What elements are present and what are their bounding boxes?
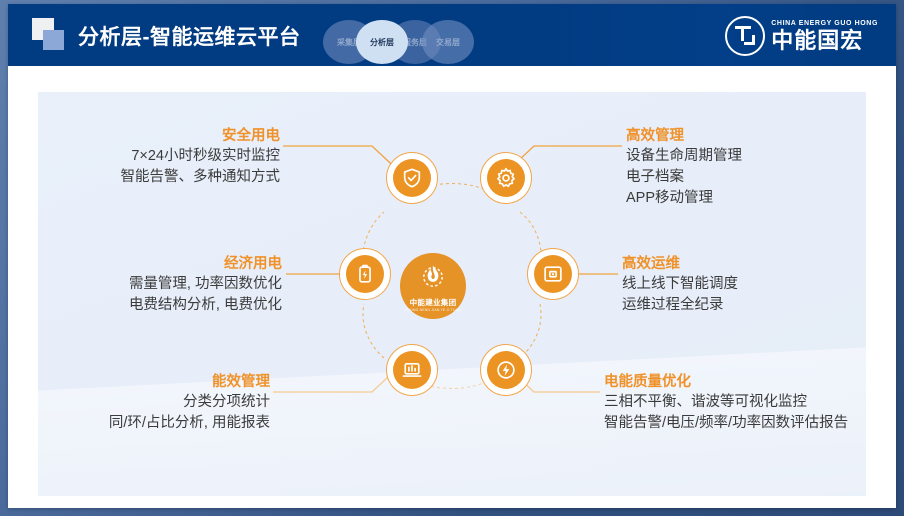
block-title: 安全用电 xyxy=(38,126,280,146)
block-line: 分类分项统计 xyxy=(38,392,270,413)
mark-hook xyxy=(744,35,755,45)
text-block-power-quality: 电能质量优化 三相不平衡、谐波等可视化监控 智能告警/电压/频率/功率因数评估报… xyxy=(604,372,866,434)
china-energy-guohong-mark-icon xyxy=(725,16,765,56)
gear-icon xyxy=(487,159,525,197)
node-efficient-management[interactable] xyxy=(480,152,532,204)
block-title: 经济用电 xyxy=(38,254,282,274)
block-line: 同/环/占比分析, 用能报表 xyxy=(38,413,270,434)
block-line: 设备生命周期管理 xyxy=(626,146,866,167)
diagram-panel: 中能建业集团 ZHONG NENG JIAN YE JI TUAN 安全用电 7… xyxy=(38,92,866,496)
flame-gear-emblem-icon xyxy=(418,263,448,296)
block-line: 电费结构分析, 电费优化 xyxy=(38,295,282,316)
block-line: 智能告警/电压/频率/功率因数评估报告 xyxy=(604,413,866,434)
stage-pill-trading[interactable]: 交易层 xyxy=(422,20,474,64)
battery-bolt-icon xyxy=(346,255,384,293)
block-line: 7×24小时秒级实时监控 xyxy=(38,146,280,167)
stage-pill-group: 采集层 服务层 交易层 分析层 xyxy=(323,20,473,64)
company-name-chinese: 中能国宏 xyxy=(771,29,878,53)
center-logo-emblem: 中能建业集团 ZHONG NENG JIAN YE JI TUAN xyxy=(400,253,466,319)
monitor-icon xyxy=(534,255,572,293)
node-energy-efficiency[interactable] xyxy=(386,344,438,396)
block-line: 电子档案 xyxy=(626,167,866,188)
page-title: 分析层-智能运维云平台 xyxy=(78,21,301,51)
chart-laptop-icon xyxy=(393,351,431,389)
center-logo-chinese: 中能建业集团 xyxy=(410,297,457,308)
text-block-efficient-operations: 高效运维 线上线下智能调度 运维过程全纪录 xyxy=(622,254,866,316)
stage-pill-label: 交易层 xyxy=(436,37,460,48)
node-power-quality[interactable] xyxy=(480,344,532,396)
stage-pill-label: 分析层 xyxy=(370,37,394,48)
node-safe-power[interactable] xyxy=(386,152,438,204)
block-line: 线上线下智能调度 xyxy=(622,274,866,295)
node-economic-power[interactable] xyxy=(339,248,391,300)
header-bar: 分析层-智能运维云平台 采集层 服务层 交易层 分析层 xyxy=(8,4,896,66)
block-title: 电能质量优化 xyxy=(604,372,866,392)
company-logo: CHINA ENERGY GUO HONG 中能国宏 xyxy=(725,16,878,56)
node-efficient-operations[interactable] xyxy=(527,248,579,300)
screenshot-root: 分析层-智能运维云平台 采集层 服务层 交易层 分析层 xyxy=(0,0,904,516)
block-line: 需量管理, 功率因数优化 xyxy=(38,274,282,295)
center-logo-pinyin: ZHONG NENG JIAN YE JI TUAN xyxy=(405,308,461,312)
two-squares-icon xyxy=(32,18,72,54)
shield-check-icon xyxy=(393,159,431,197)
block-line: 运维过程全纪录 xyxy=(622,295,866,316)
text-block-energy-efficiency: 能效管理 分类分项统计 同/环/占比分析, 用能报表 xyxy=(38,372,270,434)
square-blue xyxy=(43,30,64,50)
block-line: 三相不平衡、谐波等可视化监控 xyxy=(604,392,866,413)
slide-page: 分析层-智能运维云平台 采集层 服务层 交易层 分析层 xyxy=(8,4,896,508)
text-block-efficient-management: 高效管理 设备生命周期管理 电子档案 APP移动管理 xyxy=(626,126,866,209)
block-line: APP移动管理 xyxy=(626,188,866,209)
company-wordmark: CHINA ENERGY GUO HONG 中能国宏 xyxy=(771,19,878,53)
block-title: 高效管理 xyxy=(626,126,866,146)
block-title: 能效管理 xyxy=(38,372,270,392)
block-line: 智能告警、多种通知方式 xyxy=(38,167,280,188)
text-block-economic-power: 经济用电 需量管理, 功率因数优化 电费结构分析, 电费优化 xyxy=(38,254,282,316)
lightning-circle-icon xyxy=(487,351,525,389)
text-block-safe-power: 安全用电 7×24小时秒级实时监控 智能告警、多种通知方式 xyxy=(38,126,280,188)
block-title: 高效运维 xyxy=(622,254,866,274)
stage-pill-analysis[interactable]: 分析层 xyxy=(356,20,408,64)
